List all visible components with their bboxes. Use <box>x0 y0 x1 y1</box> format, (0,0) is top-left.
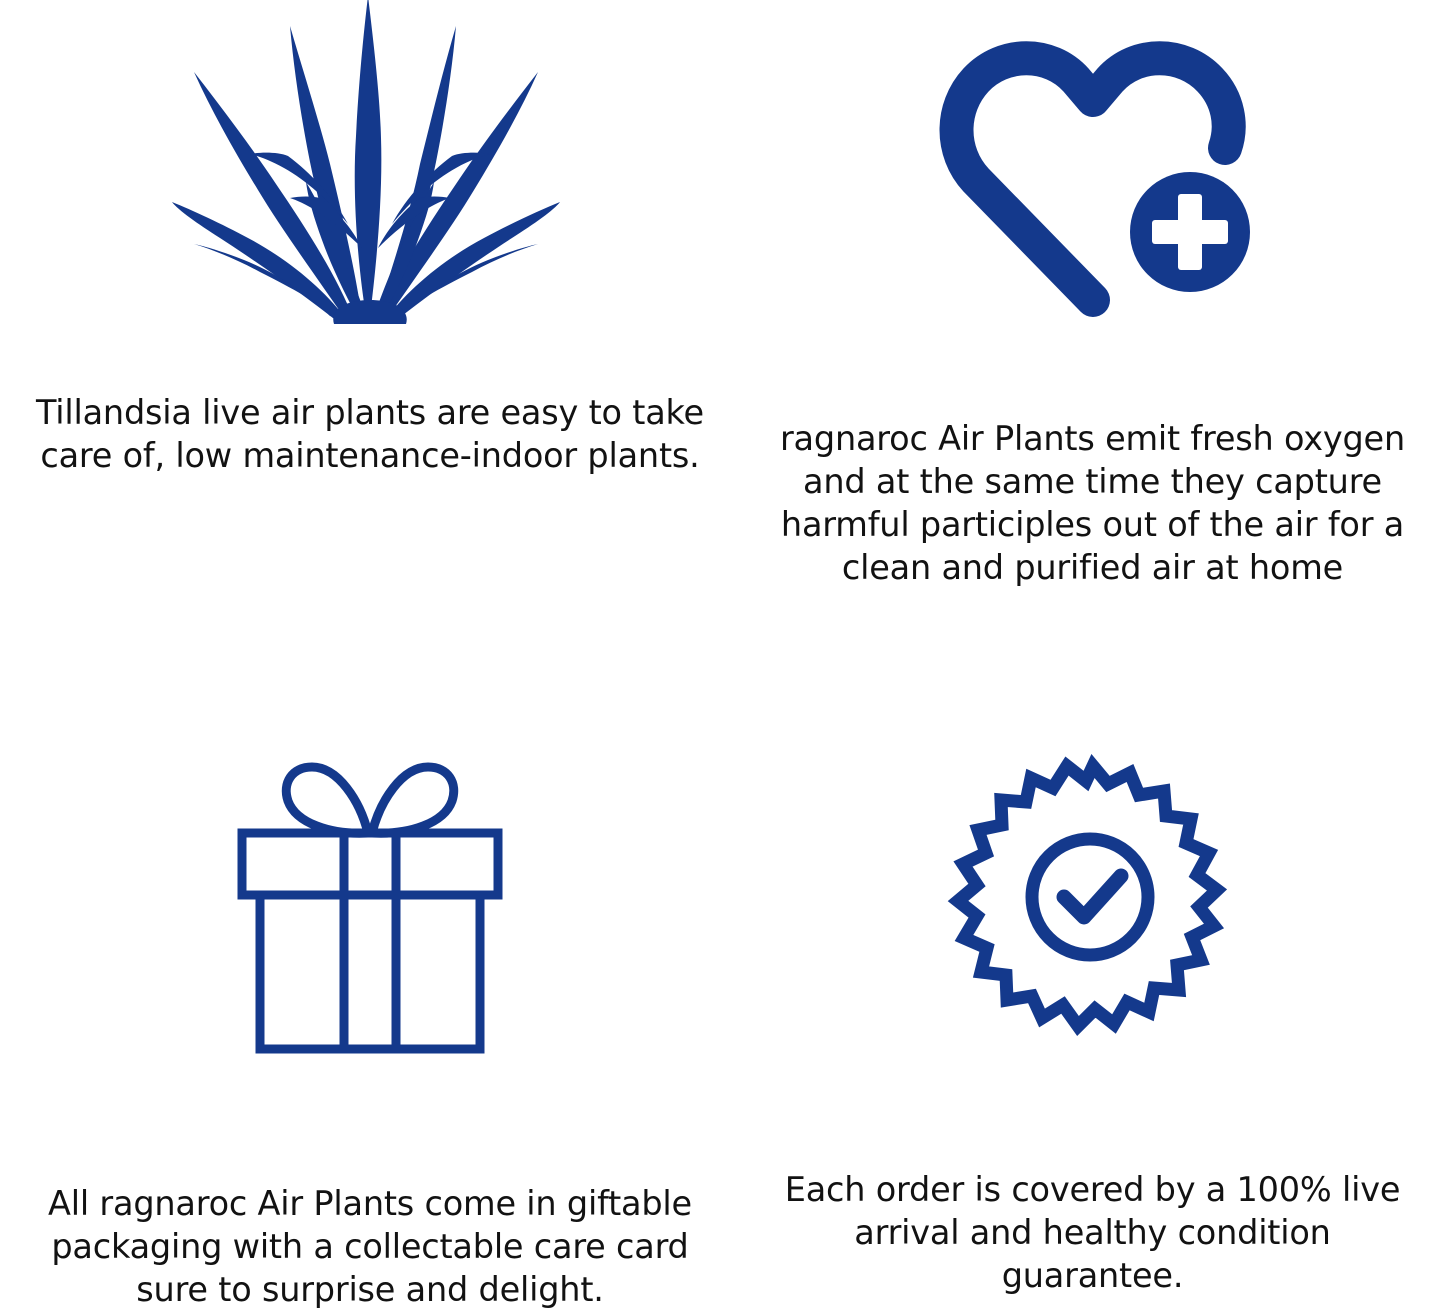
gift-box-icon <box>200 749 540 1079</box>
feature-caption: ragnaroc Air Plants emit fresh oxygen an… <box>757 418 1429 590</box>
feature-caption: Each order is covered by a 100% live arr… <box>778 1169 1408 1298</box>
heart-plus-icon <box>928 22 1258 322</box>
feature-card-air-purify: ragnaroc Air Plants emit fresh oxygen an… <box>740 0 1445 649</box>
feature-caption: Tillandsia live air plants are easy to t… <box>0 392 740 478</box>
quality-guarantee-badge-icon <box>943 759 1243 1049</box>
feature-caption: All ragnaroc Air Plants come in giftable… <box>25 1183 715 1312</box>
feature-card-air-plant: Tillandsia live air plants are easy to t… <box>0 0 740 649</box>
feature-grid: Tillandsia live air plants are easy to t… <box>0 0 1445 1312</box>
feature-card-gift-packaging: All ragnaroc Air Plants come in giftable… <box>0 649 740 1312</box>
feature-card-guarantee: Each order is covered by a 100% live arr… <box>740 649 1445 1312</box>
air-plant-icon <box>170 0 570 326</box>
